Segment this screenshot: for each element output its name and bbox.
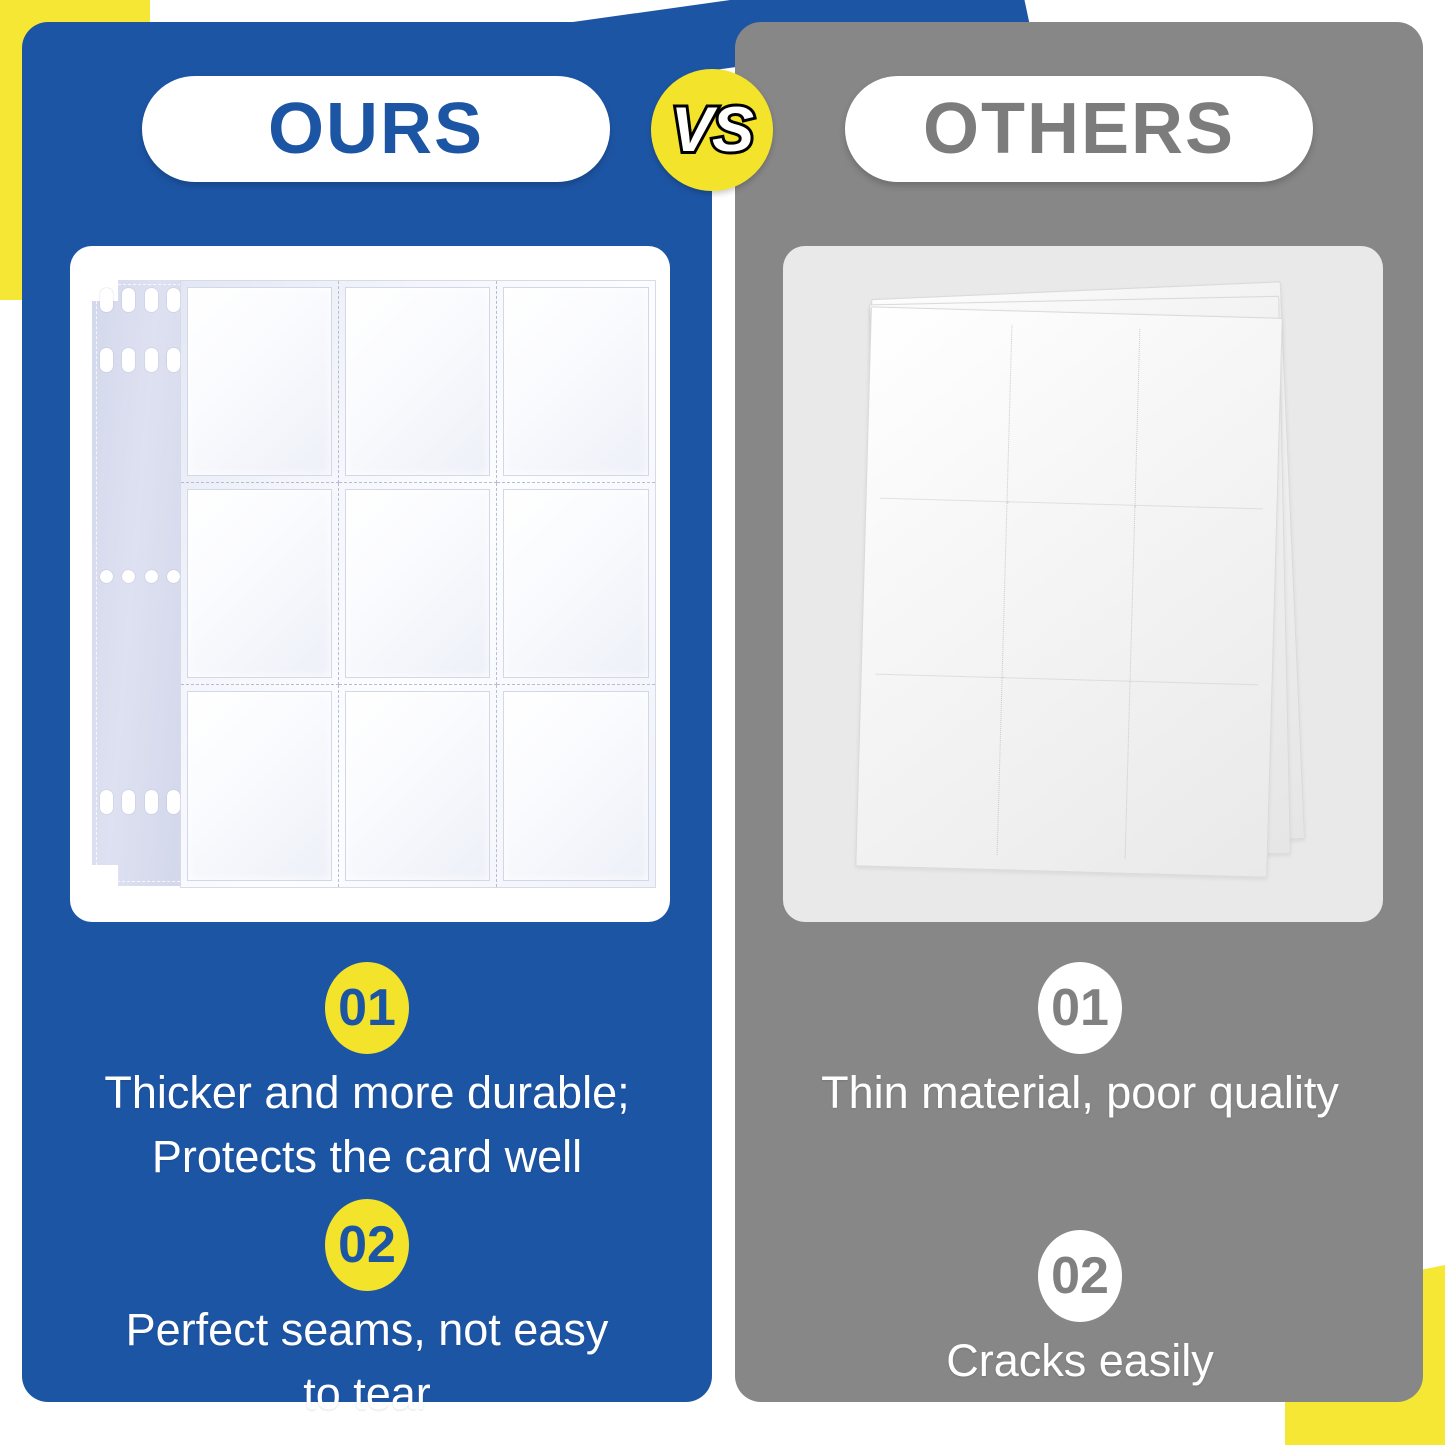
ours-header-label: OURS [268,93,484,165]
card-pocket [181,281,339,483]
vs-badge-label: VS [671,99,753,162]
others-header-label: OTHERS [923,93,1235,165]
sheet-stack-illustration [843,286,1313,886]
ours-header-pill: OURS [142,76,610,182]
ours-feature-2-line-2: to tear [50,1365,684,1423]
punch-holes-row-upper [100,348,180,372]
punch-hole-icon [122,790,135,814]
ours-feature-2-number: 02 [325,1199,409,1291]
others-header-pill: OTHERS [845,76,1313,182]
others-feature-2-number: 02 [1038,1230,1122,1322]
punch-holes-row-middle [100,570,180,583]
punch-hole-icon [145,288,158,312]
ours-feature-list: 01 Thicker and more durable; Protects th… [50,962,684,1422]
punch-hole-icon [100,790,113,814]
others-feature-2-line-1: Cracks easily [763,1332,1397,1390]
punch-hole-icon [145,348,158,372]
sheet-layer-top [855,306,1282,877]
punch-hole-icon [122,570,135,583]
card-pocket [339,281,497,483]
nine-pocket-grid [180,280,656,888]
punch-hole-icon [122,348,135,372]
card-page-illustration [92,270,654,898]
punch-hole-icon [145,790,158,814]
punch-hole-icon [100,348,113,372]
others-feature-1-number: 01 [1038,962,1122,1054]
others-feature-1-line-1: Thin material, poor quality [763,1064,1397,1122]
vs-badge: VS [651,69,773,191]
card-pocket [497,685,655,887]
punch-hole-icon [167,348,180,372]
card-pocket [339,685,497,887]
card-pocket [339,483,497,685]
punch-hole-icon [100,570,113,583]
ours-feature-2-line-1: Perfect seams, not easy [50,1301,684,1359]
punch-hole-icon [100,288,113,312]
others-product-image [783,246,1383,922]
card-pocket [497,483,655,685]
ours-product-image [70,246,670,922]
ours-feature-1-line-2: Protects the card well [50,1128,684,1186]
card-pocket [181,483,339,685]
punch-holes-row-top [100,288,180,312]
ours-feature-1-number: 01 [325,962,409,1054]
card-pocket [497,281,655,483]
punch-holes-row-lower [100,790,180,814]
punch-hole-icon [167,288,180,312]
punch-hole-icon [122,288,135,312]
punch-hole-icon [167,790,180,814]
punch-hole-icon [145,570,158,583]
card-pocket [181,685,339,887]
infographic-canvas: OURS [0,0,1445,1445]
ours-feature-1-line-1: Thicker and more durable; [50,1064,684,1122]
others-feature-list: 01 Thin material, poor quality 02 Cracks… [763,962,1397,1389]
punch-hole-icon [167,570,180,583]
